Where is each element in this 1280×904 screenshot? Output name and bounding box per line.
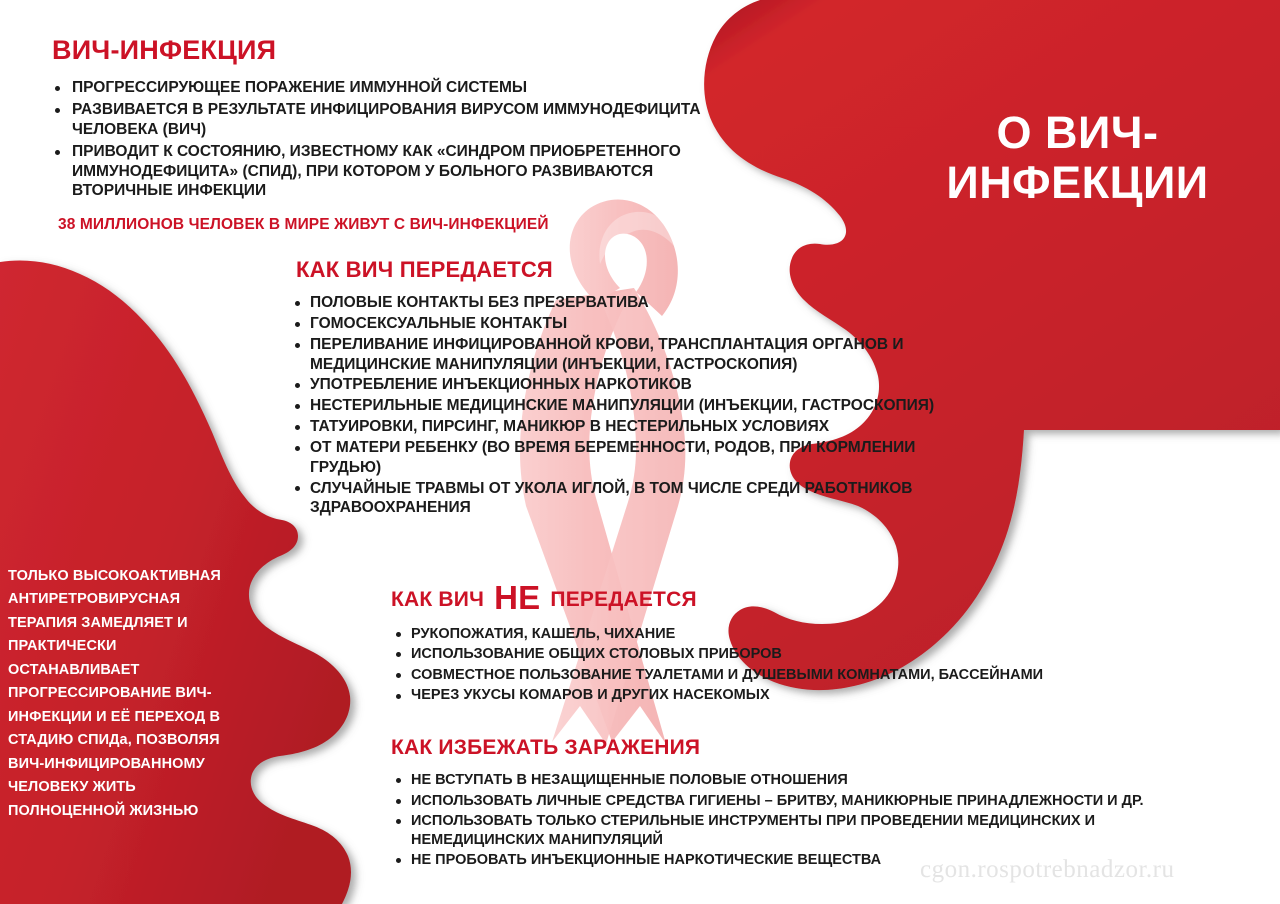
list-item: НЕСТЕРИЛЬНЫЕ МЕДИЦИНСКИЕ МАНИПУЛЯЦИИ (ИН… [290, 396, 942, 416]
therapy-note-text: ТОЛЬКО ВЫСОКОАКТИВНАЯ АНТИРЕТРОВИРУСНАЯ … [8, 565, 238, 823]
section-how-hiv-is-not-transmitted: КАК ВИЧ НЕ ПЕРЕДАЕТСЯ РУКОПОЖАТИЯ, КАШЕЛ… [385, 583, 1145, 707]
heading-prevention: КАК ИЗБЕЖАТЬ ЗАРАЖЕНИЯ [391, 737, 1175, 759]
section-how-hiv-is-transmitted: КАК ВИЧ ПЕРЕДАЕТСЯ ПОЛОВЫЕ КОНТАКТЫ БЕЗ … [282, 258, 942, 519]
list-item: УПОТРЕБЛЕНИЕ ИНЪЕКЦИОННЫХ НАРКОТИКОВ [290, 375, 942, 395]
list-item: РАЗВИВАЕТСЯ В РЕЗУЛЬТАТЕ ИНФИЦИРОВАНИЯ В… [50, 100, 750, 140]
list-item: ПРИВОДИТ К СОСТОЯНИЮ, ИЗВЕСТНОМУ КАК «СИ… [50, 142, 750, 201]
transmission-bullet-list: ПОЛОВЫЕ КОНТАКТЫ БЕЗ ПРЕЗЕРВАТИВА ГОМОСЕ… [290, 293, 942, 518]
list-item: СЛУЧАЙНЫЕ ТРАВМЫ ОТ УКОЛА ИГЛОЙ, В ТОМ Ч… [290, 479, 942, 519]
heading-not-transmission: КАК ВИЧ НЕ ПЕРЕДАЕТСЯ [391, 583, 1145, 613]
statistic-line: 38 МИЛЛИОНОВ ЧЕЛОВЕК В МИРЕ ЖИВУТ С ВИЧ-… [58, 216, 750, 234]
list-item: ИСПОЛЬЗОВАТЬ ТОЛЬКО СТЕРИЛЬНЫЕ ИНСТРУМЕН… [391, 812, 1175, 849]
list-item: НЕ ВСТУПАТЬ В НЕЗАЩИЩЕННЫЕ ПОЛОВЫЕ ОТНОШ… [391, 771, 1175, 790]
list-item: ЧЕРЕЗ УКУСЫ КОМАРОВ И ДРУГИХ НАСЕКОМЫХ [391, 686, 1145, 705]
prevention-bullet-list: НЕ ВСТУПАТЬ В НЕЗАЩИЩЕННЫЕ ПОЛОВЫЕ ОТНОШ… [391, 771, 1175, 870]
heading-not-transmission-emphasis: НЕ [494, 579, 540, 616]
page-title-about-hiv: О ВИЧ-ИНФЕКЦИИ [905, 108, 1250, 209]
list-item: ИСПОЛЬЗОВАНИЕ ОБЩИХ СТОЛОВЫХ ПРИБОРОВ [391, 645, 1145, 664]
infographic-poster: О ВИЧ-ИНФЕКЦИИ ВИЧ-ИНФЕКЦИЯ ПРОГРЕССИРУЮ… [0, 0, 1280, 904]
list-item: ГОМОСЕКСУАЛЬНЫЕ КОНТАКТЫ [290, 314, 942, 334]
heading-not-transmission-part2: ПЕРЕДАЕТСЯ [550, 588, 696, 611]
intro-bullet-list: ПРОГРЕССИРУЮЩЕЕ ПОРАЖЕНИЕ ИММУННОЙ СИСТЕ… [50, 78, 750, 201]
list-item: ПРОГРЕССИРУЮЩЕЕ ПОРАЖЕНИЕ ИММУННОЙ СИСТЕ… [50, 78, 750, 98]
heading-not-transmission-part1: КАК ВИЧ [391, 588, 484, 611]
site-watermark: cgon.rospotrebnadzor.ru [920, 856, 1174, 884]
list-item: СОВМЕСТНОЕ ПОЛЬЗОВАНИЕ ТУАЛЕТАМИ И ДУШЕВ… [391, 666, 1145, 685]
list-item: ОТ МАТЕРИ РЕБЕНКУ (ВО ВРЕМЯ БЕРЕМЕННОСТИ… [290, 438, 942, 478]
heading-hiv-infection: ВИЧ-ИНФЕКЦИЯ [52, 36, 750, 64]
section-how-to-avoid-infection: КАК ИЗБЕЖАТЬ ЗАРАЖЕНИЯ НЕ ВСТУПАТЬ В НЕЗ… [385, 737, 1175, 872]
heading-transmission: КАК ВИЧ ПЕРЕДАЕТСЯ [296, 258, 942, 281]
list-item: ПЕРЕЛИВАНИЕ ИНФИЦИРОВАННОЙ КРОВИ, ТРАНСП… [290, 335, 942, 375]
list-item: РУКОПОЖАТИЯ, КАШЕЛЬ, ЧИХАНИЕ [391, 625, 1145, 644]
list-item: ПОЛОВЫЕ КОНТАКТЫ БЕЗ ПРЕЗЕРВАТИВА [290, 293, 942, 313]
list-item: ТАТУИРОВКИ, ПИРСИНГ, МАНИКЮР В НЕСТЕРИЛЬ… [290, 417, 942, 437]
section-hiv-intro: ВИЧ-ИНФЕКЦИЯ ПРОГРЕССИРУЮЩЕЕ ПОРАЖЕНИЕ И… [50, 36, 750, 234]
not-transmission-bullet-list: РУКОПОЖАТИЯ, КАШЕЛЬ, ЧИХАНИЕ ИСПОЛЬЗОВАН… [391, 625, 1145, 705]
list-item: ИСПОЛЬЗОВАТЬ ЛИЧНЫЕ СРЕДСТВА ГИГИЕНЫ – Б… [391, 792, 1175, 811]
